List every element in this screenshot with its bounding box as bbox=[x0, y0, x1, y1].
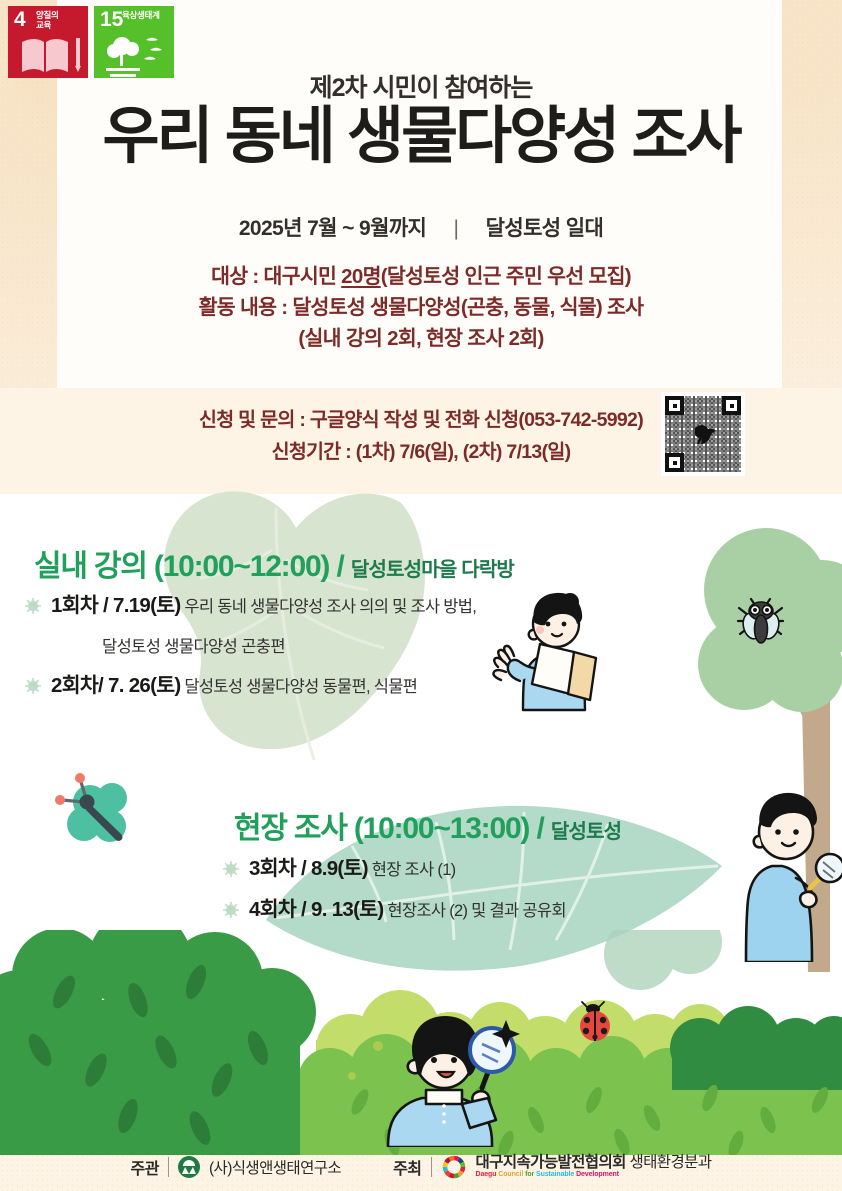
sdg-15-title: 육상생태계 bbox=[122, 10, 160, 20]
info-target-count: 20명 bbox=[341, 265, 381, 288]
footer-divider bbox=[168, 1157, 169, 1177]
footer-organizer-org: 대구지속가능발전협의회 생태환경분과 bbox=[476, 1155, 712, 1171]
list-item: 4회차 / 9. 13(토) 현장조사 (2) 및 결과 공유회 bbox=[222, 896, 682, 924]
indoor-heading-text: 실내 강의 (10:00~12:00) bbox=[34, 550, 329, 583]
session-label: 2회차/ 7. 26(토) bbox=[51, 674, 181, 697]
list-item-text: 2회차/ 7. 26(토) 달성토성 생물다양성 동물편, 식물편 bbox=[51, 672, 417, 700]
page-title: 우리 동네 생물다양성 조사 bbox=[0, 104, 842, 169]
field-heading-text: 현장 조사 (10:00~13:00) bbox=[234, 812, 529, 845]
field-heading-place: 달성토성 bbox=[551, 821, 621, 843]
subline-divider: | bbox=[454, 217, 459, 241]
info-target-suffix: (달성토성 인근 주민 우선 모집) bbox=[381, 265, 631, 288]
indoor-heading-place: 달성토성마을 다락방 bbox=[351, 559, 514, 581]
sdg-badge-15: 15 육상생태계 bbox=[94, 6, 174, 78]
footer-organizer-org-sub: Daegu Council for Sustainable Developmen… bbox=[476, 1171, 712, 1178]
list-item: 1회차 / 7.19(토) 우리 동네 생물다양성 조사 의의 및 조사 방법, bbox=[24, 592, 544, 620]
indoor-section-heading: 실내 강의 (10:00~12:00) / 달성토성마을 다락방 bbox=[34, 541, 514, 585]
session-label: 1회차 / 7.19(토) bbox=[51, 594, 181, 617]
footer: 주관 (사)식생앤생태연구소 주최 bbox=[0, 1143, 842, 1191]
footer-group-host: 주관 (사)식생앤생태연구소 bbox=[131, 1155, 342, 1179]
flower-bullet-icon bbox=[24, 677, 42, 695]
qr-code-bird-icon[interactable] bbox=[665, 396, 741, 472]
footer-organizer-org-stack: 대구지속가능발전협의회 생태환경분과 Daegu Council for Sus… bbox=[476, 1155, 712, 1179]
flower-bullet-icon bbox=[222, 860, 240, 878]
sdg-badge-4: 4 양질의교육 bbox=[8, 6, 88, 78]
list-item-text: 1회차 / 7.19(토) 우리 동네 생물다양성 조사 의의 및 조사 방법, bbox=[51, 592, 476, 620]
footer-organizer-org-name: 대구지속가능발전협의회 bbox=[476, 1154, 626, 1171]
info-line-activity: 활동 내용 : 달성토성 생물다양성(곤충, 동물, 식물) 조사 bbox=[0, 293, 842, 324]
bird-silhouette-icon bbox=[691, 422, 717, 446]
indoor-session-note: 달성토성 생물다양성 곤충편 bbox=[102, 633, 544, 657]
sdg-wheel-icon bbox=[441, 1154, 467, 1180]
sdg-badge-row: 4 양질의교육 15 육상생태계 bbox=[8, 6, 174, 78]
field-session-list: 3회차 / 8.9(토) 현장 조사 (1) 4회차 / 9. 13(토) 현장… bbox=[222, 855, 682, 936]
open-book-pencil-icon bbox=[8, 32, 88, 78]
footer-group-organizer: 주최 bbox=[393, 1154, 711, 1180]
indoor-heading-slash: / bbox=[336, 550, 343, 583]
session-desc: 달성토성 생물다양성 동물편, 식물편 bbox=[181, 678, 418, 696]
session-label: 4회차 / 9. 13(토) bbox=[249, 898, 384, 921]
session-desc: 현장조사 (2) 및 결과 공유회 bbox=[384, 902, 566, 920]
list-item-text: 3회차 / 8.9(토) 현장 조사 (1) bbox=[249, 855, 455, 883]
info-line-target: 대상 : 대구시민 20명(달성토성 인근 주민 우선 모집) bbox=[0, 262, 842, 293]
footer-host-label: 주관 bbox=[131, 1155, 159, 1179]
footer-organizer-label: 주최 bbox=[393, 1155, 421, 1179]
session-label: 3회차 / 8.9(토) bbox=[249, 857, 368, 880]
sdg-15-number: 15 bbox=[100, 9, 123, 30]
info-line-sessions: (실내 강의 2회, 현장 조사 2회) bbox=[0, 324, 842, 355]
sdg-4-title: 양질의교육 bbox=[36, 10, 59, 31]
field-section-heading: 현장 조사 (10:00~13:00) / 달성토성 bbox=[234, 803, 621, 847]
tree-birds-icon bbox=[94, 32, 174, 78]
session-desc: 우리 동네 생물다양성 조사 의의 및 조사 방법, bbox=[181, 598, 477, 616]
list-item: 3회차 / 8.9(토) 현장 조사 (1) bbox=[222, 855, 682, 883]
indoor-session-list: 1회차 / 7.19(토) 우리 동네 생물다양성 조사 의의 및 조사 방법,… bbox=[24, 592, 544, 712]
period-text: 2025년 7월 ~ 9월까지 bbox=[239, 217, 426, 240]
location-text: 달성토성 일대 bbox=[486, 217, 604, 240]
period-location-line: 2025년 7월 ~ 9월까지 | 달성토성 일대 bbox=[0, 212, 842, 242]
list-item: 2회차/ 7. 26(토) 달성토성 생물다양성 동물편, 식물편 bbox=[24, 672, 544, 700]
vegetation-institute-logo-icon bbox=[178, 1156, 200, 1178]
poster-root: 4 양질의교육 15 육상생태계 bbox=[0, 0, 842, 1191]
list-item-text: 4회차 / 9. 13(토) 현장조사 (2) 및 결과 공유회 bbox=[249, 896, 566, 924]
sdg-4-number: 4 bbox=[14, 9, 26, 30]
field-heading-slash: / bbox=[536, 812, 543, 845]
flower-bullet-icon bbox=[24, 597, 42, 615]
info-target-prefix: 대상 : 대구시민 bbox=[211, 265, 341, 288]
footer-divider bbox=[431, 1157, 432, 1177]
session-desc: 현장 조사 (1) bbox=[368, 861, 456, 879]
footer-host-org: (사)식생앤생태연구소 bbox=[209, 1156, 341, 1178]
flower-bullet-icon bbox=[222, 901, 240, 919]
qr-code[interactable] bbox=[661, 392, 745, 476]
info-block: 대상 : 대구시민 20명(달성토성 인근 주민 우선 모집) 활동 내용 : … bbox=[0, 262, 842, 354]
footer-organizer-org-dept: 생태환경분과 bbox=[626, 1154, 712, 1171]
